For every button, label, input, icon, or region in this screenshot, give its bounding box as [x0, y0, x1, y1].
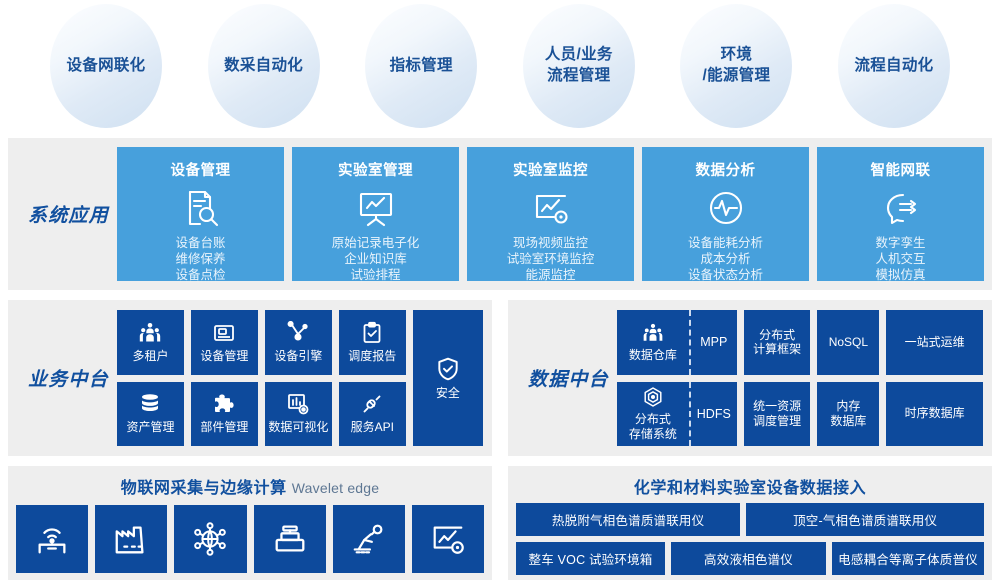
data-tile-label: 存储系统 [629, 427, 677, 442]
business-platform-label: 业务中台 [28, 365, 109, 392]
system-application-cards: 设备管理 设备台账 维修保养 设备点检 实验室管理 [117, 147, 992, 281]
document-search-icon [181, 188, 221, 228]
clipboard-check-icon [360, 321, 384, 345]
data-tile-label: 时序数据库 [905, 406, 965, 421]
tile-column: 多租户 资产管理 [117, 310, 184, 446]
capability-line: 设备网联化 [66, 56, 145, 77]
biz-tile-label: 调度报告 [348, 349, 396, 364]
app-card-equipment-management[interactable]: 设备管理 设备台账 维修保养 设备点检 [117, 147, 284, 281]
biz-tile-device-management[interactable]: 设备管理 [191, 310, 258, 375]
biz-tile-data-visualization[interactable]: 数据可视化 [265, 382, 332, 447]
lab-box-row: 热脱附气相色谱质谱联用仪 顶空-气相色谱质谱联用仪 [516, 503, 984, 536]
data-platform-label: 数据中台 [528, 365, 609, 392]
data-tile-label: 内存 数据库 [830, 399, 866, 428]
app-card-line: 原始记录电子化 [332, 235, 420, 251]
biz-tile-label: 安全 [436, 386, 460, 401]
app-card-line: 设备台账 [175, 235, 225, 251]
chart-view-icon [286, 392, 310, 416]
app-card-line: 试验排程 [332, 267, 420, 283]
app-card-line: 能源监控 [507, 267, 595, 283]
app-card-title: 实验室管理 [338, 159, 413, 180]
capability-ellipse[interactable]: 数采自动化 [208, 4, 320, 128]
system-application-panel: 系统应用 设备管理 设备台账 维修保养 设备点检 实验室管 [8, 138, 992, 290]
iot-edge-title-text: 物联网采集与边缘计算 [121, 480, 287, 497]
plug-connect-icon [360, 392, 384, 416]
tile-column: 数据仓库 MPP 分布式 存储系统 HDFS [617, 310, 737, 446]
presentation-chart-icon [356, 188, 396, 228]
app-card-lines: 设备能耗分析 成本分析 设备状态分析 [688, 235, 763, 283]
biz-tile-label: 资产管理 [126, 420, 174, 435]
app-card-line: 成本分析 [688, 251, 763, 267]
app-card-title: 智能网联 [871, 159, 931, 180]
capability-line: 环境 [702, 45, 770, 66]
shield-check-icon [435, 356, 461, 382]
data-tile-distributed-compute[interactable]: 分布式 计算框架 [744, 310, 811, 375]
data-tile-distributed-storage-hdfs[interactable]: 分布式 存储系统 HDFS [617, 382, 737, 447]
business-platform-tiles: 多租户 资产管理 设备管理 [117, 310, 483, 446]
data-tile-data-warehouse-mpp[interactable]: 数据仓库 MPP [617, 310, 737, 375]
lab-box-hs-gcms[interactable]: 顶空-气相色谱质谱联用仪 [746, 503, 984, 536]
app-card-line: 数字孪生 [875, 235, 925, 251]
tile-column: 一站式运维 时序数据库 [886, 310, 983, 446]
data-tile-label: 一站式运维 [905, 335, 965, 350]
tile-column: 调度报告 服务API [339, 310, 406, 446]
device-box-icon [212, 321, 236, 345]
capability-ellipse[interactable]: 设备网联化 [50, 4, 162, 128]
biz-tile-service-api[interactable]: 服务API [339, 382, 406, 447]
data-platform-tiles: 数据仓库 MPP 分布式 存储系统 HDFS [617, 310, 983, 446]
capability-line: 流程自动化 [854, 56, 933, 77]
storage-cube-icon [642, 386, 664, 408]
factory-icon[interactable] [95, 505, 167, 573]
lab-box-row: 整车 VOC 试验环境箱 高效液相色谱仪 电感耦合等离子体质普仪 [516, 542, 984, 575]
app-card-line: 试验室环境监控 [507, 251, 595, 267]
lab-data-access-title: 化学和材料实验室设备数据接入 [508, 466, 992, 498]
database-coin-icon [138, 392, 162, 416]
biz-tile-scheduling-report[interactable]: 调度报告 [339, 310, 406, 375]
iot-icon-row [8, 498, 492, 573]
data-tile-in-memory-db[interactable]: 内存 数据库 [817, 382, 879, 447]
business-platform-panel: 业务中台 多租户 资产管理 [8, 300, 492, 456]
data-tile-label: 分布式 [635, 412, 671, 427]
app-card-line: 模拟仿真 [875, 267, 925, 283]
lab-data-access-panel: 化学和材料实验室设备数据接入 热脱附气相色谱质谱联用仪 顶空-气相色谱质谱联用仪… [508, 466, 992, 580]
users-group-icon [138, 321, 162, 345]
robot-arm-icon[interactable] [333, 505, 405, 573]
iot-edge-panel: 物联网采集与边缘计算 Wavelet edge [8, 466, 492, 580]
app-card-line: 设备状态分析 [688, 267, 763, 283]
app-card-lines: 现场视频监控 试验室环境监控 能源监控 [507, 235, 595, 283]
capability-ellipse[interactable]: 指标管理 [365, 4, 477, 128]
app-card-lines: 数字孪生 人机交互 模拟仿真 [875, 235, 925, 283]
app-card-lines: 设备台账 维修保养 设备点检 [175, 235, 225, 283]
iot-edge-subtitle: Wavelet edge [292, 480, 380, 496]
data-tile-label: NoSQL [829, 335, 868, 350]
biz-tile-device-engine[interactable]: 设备引擎 [265, 310, 332, 375]
app-card-lines: 原始记录电子化 企业知识库 试验排程 [332, 235, 420, 283]
biz-tile-label: 服务API [351, 420, 394, 435]
node-branch-icon [286, 321, 310, 345]
tile-column: 安全 [413, 310, 483, 446]
system-application-label: 系统应用 [28, 201, 109, 228]
lab-box-rows: 热脱附气相色谱质谱联用仪 顶空-气相色谱质谱联用仪 整车 VOC 试验环境箱 高… [508, 498, 992, 575]
lab-box-icp-ms[interactable]: 电感耦合等离子体质普仪 [832, 542, 984, 575]
capability-line: 数采自动化 [224, 56, 303, 77]
app-card-data-analysis[interactable]: 数据分析 设备能耗分析 成本分析 设备状态分析 [642, 147, 809, 281]
puzzle-icon [212, 392, 236, 416]
biz-tile-label: 设备管理 [200, 349, 248, 364]
data-tile-unified-resource-scheduling[interactable]: 统一资源 调度管理 [744, 382, 811, 447]
tile-column: NoSQL 内存 数据库 [817, 310, 879, 446]
users-group-icon [642, 322, 664, 344]
biz-tile-label: 多租户 [132, 349, 168, 364]
capability-line: 流程管理 [545, 66, 613, 87]
iot-network-globe-icon[interactable] [174, 505, 246, 573]
capability-ellipse[interactable]: 环境 /能源管理 [680, 4, 792, 128]
data-tile-label: 统一资源 调度管理 [753, 399, 801, 428]
data-platform-panel: 数据中台 数据仓库 MPP [508, 300, 992, 456]
lab-box-td-gcms[interactable]: 热脱附气相色谱质谱联用仪 [516, 503, 740, 536]
data-tile-tag[interactable]: HDFS [691, 382, 737, 447]
biz-tile-label: 设备引擎 [274, 349, 322, 364]
tile-column: 分布式 计算框架 统一资源 调度管理 [744, 310, 811, 446]
tile-column: 设备引擎 数据可视化 [265, 310, 332, 446]
gateway-wifi-icon[interactable] [16, 505, 88, 573]
app-card-title: 实验室监控 [513, 159, 588, 180]
iot-edge-title: 物联网采集与边缘计算 Wavelet edge [8, 466, 492, 498]
biz-tile-component-management[interactable]: 部件管理 [191, 382, 258, 447]
capability-ellipse[interactable]: 流程自动化 [838, 4, 950, 128]
capability-ellipse-row: 设备网联化 数采自动化 指标管理 人员/业务 流程管理 环境 /能源管理 流程自… [8, 0, 992, 132]
pulse-circle-icon [706, 188, 746, 228]
biz-tile-multi-tenant[interactable]: 多租户 [117, 310, 184, 375]
monitor-chart-icon[interactable] [412, 505, 484, 573]
data-tile-label: 分布式 计算框架 [753, 328, 801, 357]
capability-line: /能源管理 [702, 66, 770, 87]
data-tile-storage[interactable]: 分布式 存储系统 [617, 382, 691, 447]
architecture-diagram: 设备网联化 数采自动化 指标管理 人员/业务 流程管理 环境 /能源管理 流程自… [0, 0, 1000, 588]
app-card-line: 企业知识库 [332, 251, 420, 267]
data-tile-warehouse[interactable]: 数据仓库 [617, 310, 691, 375]
capability-line: 人员/业务 [545, 45, 613, 66]
monitor-chart-icon [531, 188, 571, 228]
app-card-line: 维修保养 [175, 251, 225, 267]
app-card-laboratory-management[interactable]: 实验室管理 原始记录电子化 企业知识库 试验排程 [292, 147, 459, 281]
biz-tile-label: 数据可视化 [268, 420, 328, 435]
capability-line: 指标管理 [390, 56, 453, 77]
lab-box-hplc[interactable]: 高效液相色谱仪 [671, 542, 826, 575]
tile-column: 设备管理 部件管理 [191, 310, 258, 446]
app-card-line: 设备点检 [175, 267, 225, 283]
data-tile-label: 数据仓库 [629, 348, 677, 363]
sensor-device-icon[interactable] [254, 505, 326, 573]
app-card-title: 设备管理 [171, 159, 231, 180]
app-card-line: 设备能耗分析 [688, 235, 763, 251]
app-card-laboratory-monitoring[interactable]: 实验室监控 现场视频监控 试验室环境监控 能源监控 [467, 147, 634, 281]
data-tile-timeseries-db[interactable]: 时序数据库 [886, 382, 983, 447]
app-card-title: 数据分析 [696, 159, 756, 180]
data-tile-nosql[interactable]: NoSQL [817, 310, 879, 375]
data-tile-one-stop-ops[interactable]: 一站式运维 [886, 310, 983, 375]
biz-tile-security[interactable]: 安全 [413, 310, 483, 446]
biz-tile-label: 部件管理 [200, 420, 248, 435]
app-card-line: 现场视频监控 [507, 235, 595, 251]
biz-tile-asset-management[interactable]: 资产管理 [117, 382, 184, 447]
app-card-line: 人机交互 [875, 251, 925, 267]
capability-ellipse[interactable]: 人员/业务 流程管理 [523, 4, 635, 128]
app-card-intelligent-connectivity[interactable]: 智能网联 数字孪生 人机交互 模拟仿真 [817, 147, 984, 281]
data-tile-tag[interactable]: MPP [691, 310, 737, 375]
lab-box-voc-chamber[interactable]: 整车 VOC 试验环境箱 [516, 542, 665, 575]
head-ai-icon [881, 188, 921, 228]
